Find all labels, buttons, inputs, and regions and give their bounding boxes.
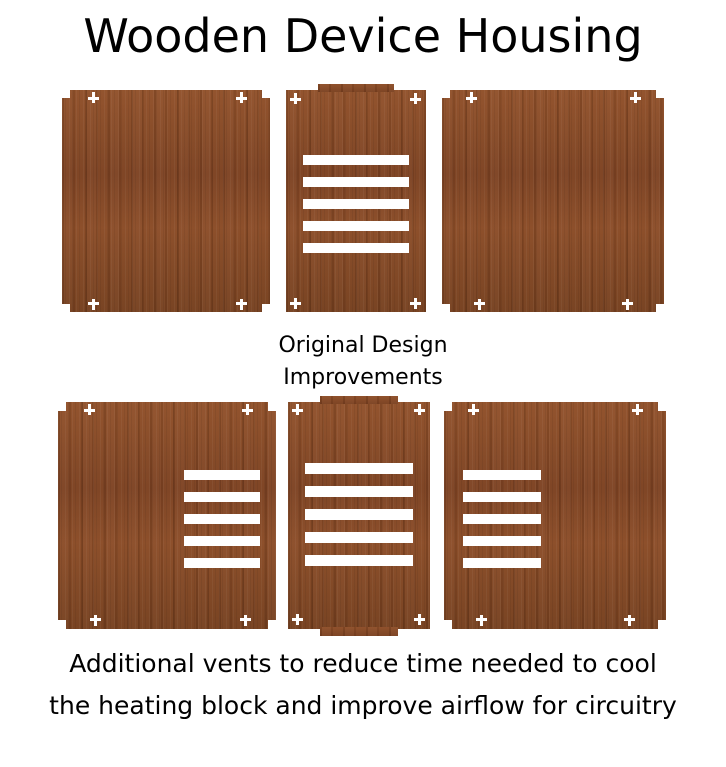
notch-cut: [444, 620, 452, 629]
center-top-tab: [320, 396, 398, 404]
peg-mark: [632, 409, 643, 412]
peg-mark: [84, 409, 95, 412]
caption-bottom-line2: the heating block and improve airflow fo…: [0, 690, 726, 722]
row-improved-design: [0, 0, 726, 640]
vent-slot: [184, 558, 260, 568]
vent-slot: [305, 532, 413, 543]
vent-slot: [463, 492, 541, 502]
vent-slot: [463, 470, 541, 480]
vent-slot: [305, 463, 413, 474]
notch-cut: [58, 620, 66, 629]
vent-slot: [305, 555, 413, 566]
vent-slot: [184, 492, 260, 502]
vent-slot: [184, 536, 260, 546]
center-bottom-tab: [320, 627, 398, 636]
notch-cut: [658, 402, 666, 411]
vent-slot: [305, 509, 413, 520]
peg-mark: [90, 618, 101, 621]
caption-bottom-line1: Additional vents to reduce time needed t…: [0, 648, 726, 680]
vent-slot: [305, 486, 413, 497]
vent-slot: [463, 514, 541, 524]
peg-mark: [476, 618, 487, 621]
notch-cut: [658, 620, 666, 629]
diagram-canvas: Wooden Device Housing: [0, 0, 726, 767]
peg-mark: [624, 618, 635, 621]
vent-slot: [184, 470, 260, 480]
peg-mark: [414, 618, 425, 621]
peg-mark: [292, 618, 303, 621]
notch-cut: [268, 620, 276, 629]
notch-cut: [58, 402, 66, 411]
peg-mark: [468, 409, 479, 412]
peg-mark: [242, 409, 253, 412]
peg-mark: [292, 409, 303, 412]
vent-slot: [463, 536, 541, 546]
peg-mark: [240, 618, 251, 621]
vent-slot: [184, 514, 260, 524]
vent-slot: [463, 558, 541, 568]
peg-mark: [414, 409, 425, 412]
notch-cut: [444, 402, 452, 411]
notch-cut: [268, 402, 276, 411]
